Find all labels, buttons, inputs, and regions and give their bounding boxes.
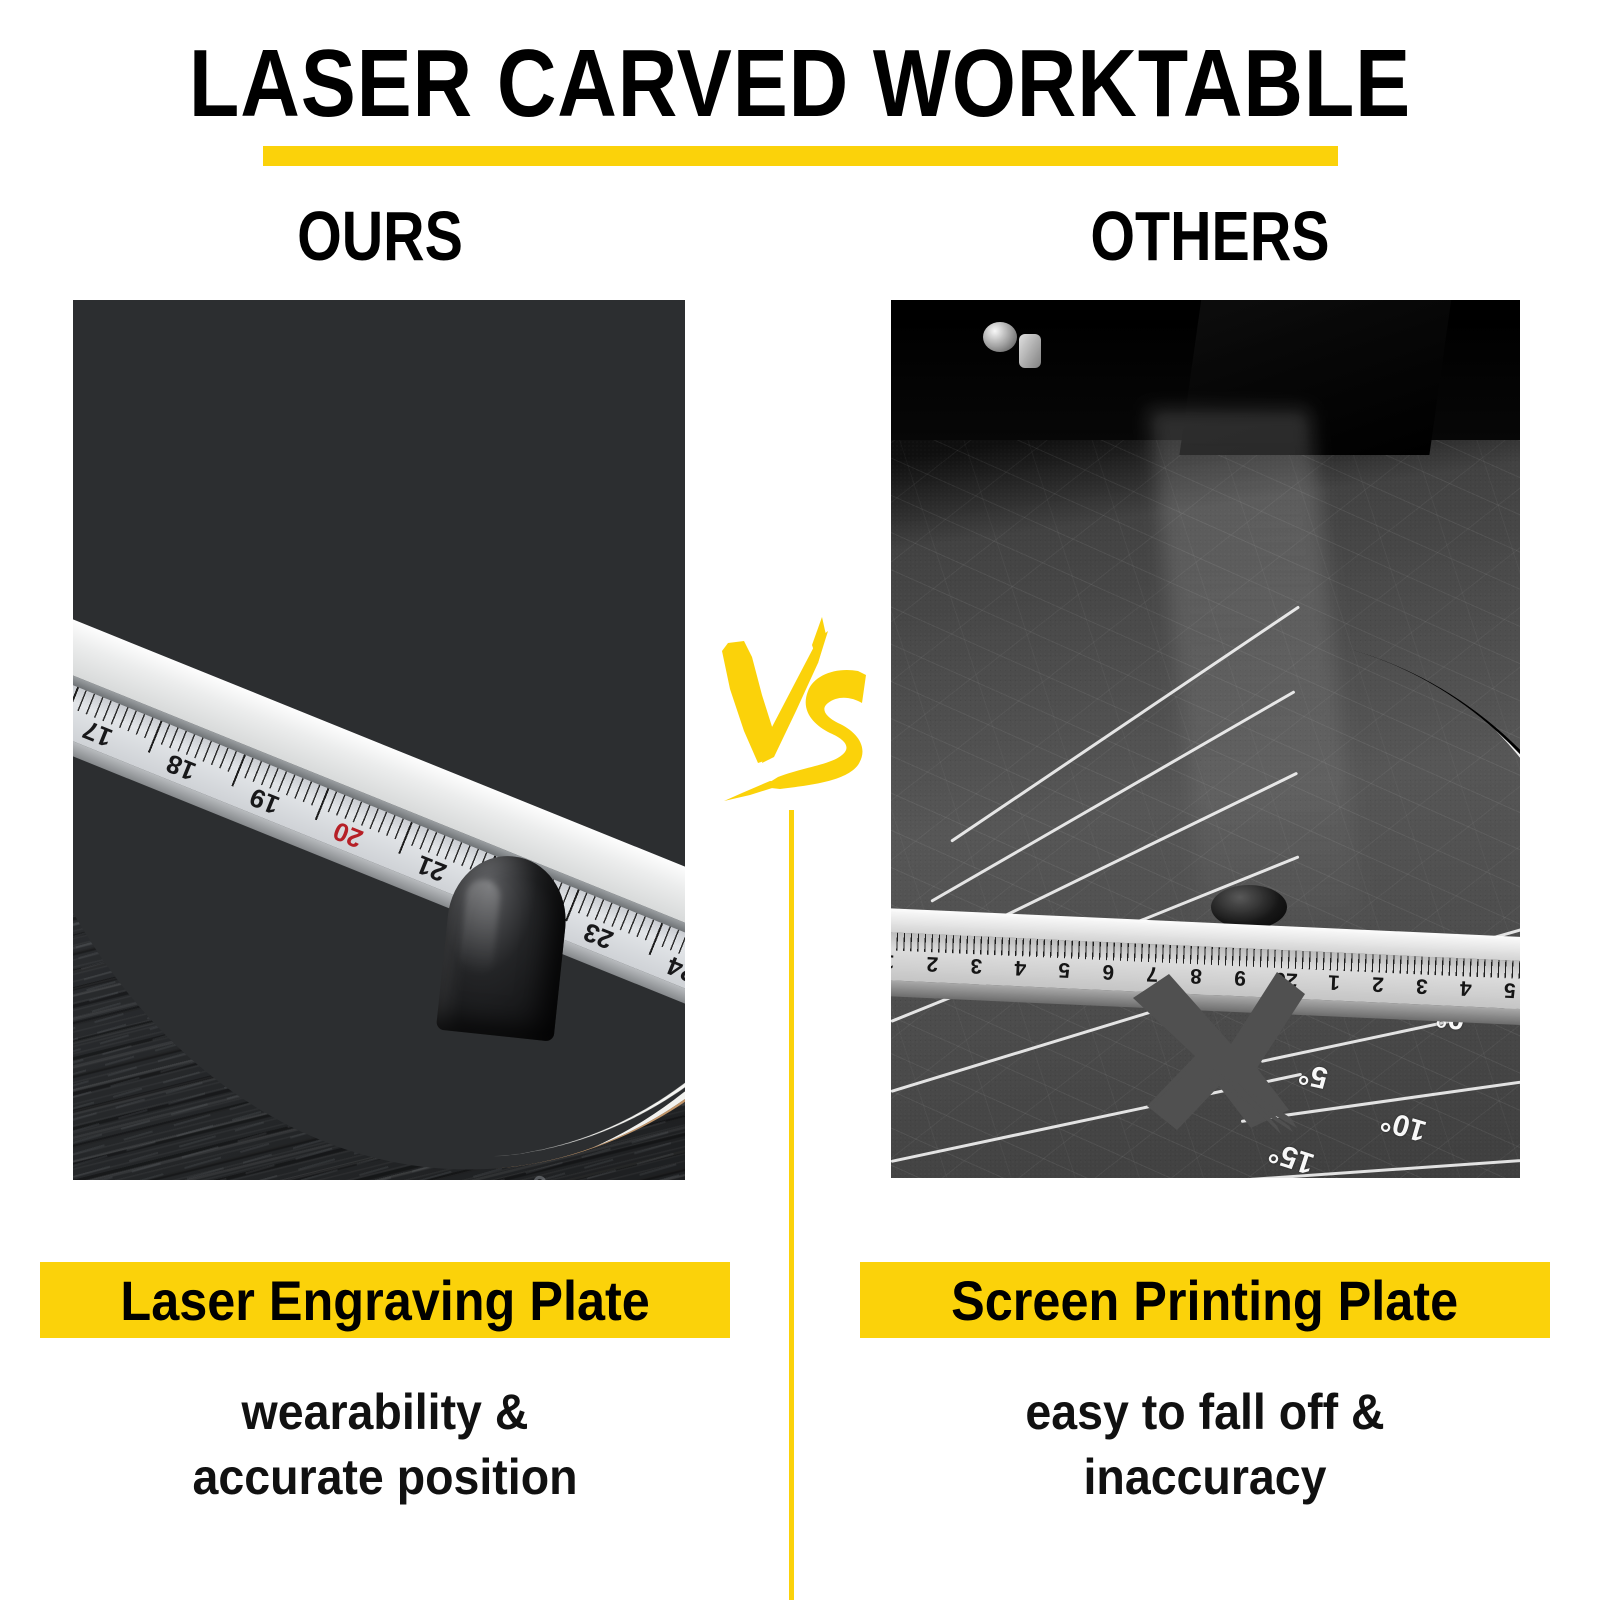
badge-label: Laser Engraving Plate	[120, 1268, 649, 1333]
ruler-number: 5	[1058, 957, 1071, 982]
badge-screen-printing-plate: Screen Printing Plate	[860, 1262, 1550, 1338]
ruler-number: 2	[926, 951, 939, 976]
ruler-number: 5	[1503, 977, 1516, 1002]
badge-label: Screen Printing Plate	[952, 1268, 1459, 1333]
column-heading-others: OTHERS	[898, 196, 1521, 276]
ruler-number: 1	[1328, 969, 1341, 994]
page-title: LASER CARVED WORKTABLE	[112, 36, 1488, 132]
caption-ours: wearability & accurate position	[35, 1380, 735, 1510]
center-vertical-divider	[789, 810, 794, 1600]
caption-line-1: easy to fall off &	[880, 1380, 1531, 1445]
red-cross-icon	[1091, 950, 1321, 1135]
badge-laser-engraving-plate: Laser Engraving Plate	[40, 1262, 730, 1338]
caption-line-2: inaccuracy	[880, 1445, 1531, 1510]
photo-ours-laser-engraved-plate: 30° 25° 10° 15° 16 17 18 19 20 21 22 23 …	[73, 300, 685, 1180]
photo-others-screen-printed-plate: 0° 5° 10° 15° 20° 25° 30° 45° 55° 1 2 3 …	[891, 300, 1520, 1178]
vs-badge-icon: VS	[700, 605, 890, 820]
infographic-page: LASER CARVED WORKTABLE OURS OTHERS 30° 2…	[0, 0, 1600, 1600]
caption-line-2: accurate position	[60, 1445, 711, 1510]
ruler-number: 4	[1460, 975, 1473, 1000]
ruler-number: 4	[1014, 955, 1027, 980]
caption-line-1: wearability &	[60, 1380, 711, 1445]
ruler-number: 3	[1416, 973, 1429, 998]
title-block: LASER CARVED WORKTABLE	[0, 36, 1600, 166]
column-heading-ours: OURS	[68, 196, 691, 276]
caption-others: easy to fall off & inaccuracy	[855, 1380, 1555, 1510]
ruler-number: 1	[891, 949, 895, 974]
ruler-number: 3	[970, 953, 983, 978]
machine-bolt-icon	[983, 322, 1017, 352]
ruler-number: 2	[1372, 971, 1385, 996]
title-underline-rule	[263, 146, 1338, 166]
machine-bracket	[1019, 334, 1041, 368]
